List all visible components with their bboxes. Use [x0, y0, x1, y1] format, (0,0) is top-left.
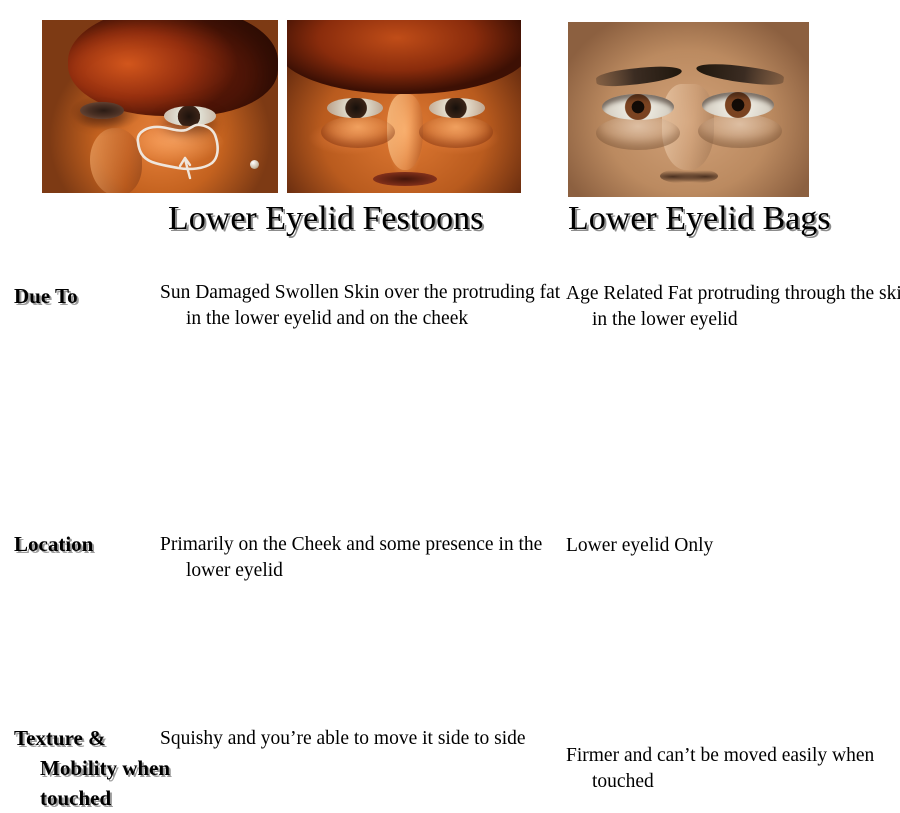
earring-highlight [250, 160, 259, 169]
right-festoon-region [419, 116, 493, 148]
nostril-region [660, 168, 718, 184]
photo-festoon-oblique [42, 20, 278, 193]
hair-region [287, 20, 521, 94]
comparison-table: Due To Sun Damaged Swollen Skin over the… [0, 272, 900, 656]
cell-texture-bags: Firmer and can’t be moved easily when to… [566, 743, 900, 795]
table-row-texture-mobility: Texture & Mobility when touched Squishy … [0, 486, 900, 656]
mouth-region [373, 172, 437, 186]
table-row-due-to: Due To Sun Damaged Swollen Skin over the… [0, 272, 900, 390]
table-row-location: Location Primarily on the Cheek and some… [0, 390, 900, 486]
right-eye-region [702, 92, 774, 118]
festoon-annotation-outline [134, 118, 234, 180]
photo-festoon-frontal [287, 20, 521, 193]
left-eye-region [327, 98, 383, 118]
left-festoon-region [321, 116, 395, 148]
row-label-texture-mobility-text: Texture & Mobility when touched [14, 726, 170, 810]
right-eyelid-bag-region [698, 114, 782, 148]
photo-bags-frontal [568, 22, 809, 197]
row-label-due-to-text: Due To [14, 284, 78, 308]
column-title-bags: Lower Eyelid Bags [568, 202, 831, 236]
cell-texture-festoons: Squishy and you’re able to move it side … [160, 726, 578, 752]
right-eye-region [429, 98, 485, 118]
left-eyelid-bag-region [596, 116, 680, 150]
column-title-festoons: Lower Eyelid Festoons [168, 202, 483, 236]
left-eye-region [602, 94, 674, 120]
cell-due-to-bags: Age Related Fat protruding through the s… [566, 281, 900, 333]
cell-due-to-festoons: Sun Damaged Swollen Skin over the protru… [160, 280, 578, 332]
left-eye-region [80, 102, 124, 119]
